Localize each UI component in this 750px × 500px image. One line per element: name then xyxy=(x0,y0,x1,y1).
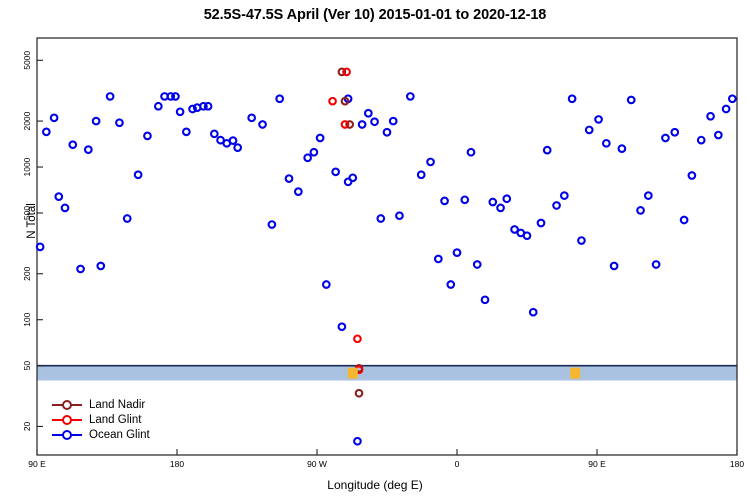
data-point xyxy=(578,237,585,244)
data-point xyxy=(116,119,123,126)
data-point xyxy=(97,263,104,270)
data-point xyxy=(544,147,551,154)
data-point xyxy=(177,109,184,116)
data-point xyxy=(205,103,212,110)
legend-marker-icon xyxy=(52,398,82,412)
data-point xyxy=(342,121,349,128)
data-point xyxy=(707,113,714,120)
data-point xyxy=(489,199,496,206)
x-tick-label-3: 0 xyxy=(455,459,460,469)
data-point xyxy=(69,141,76,148)
threshold-band xyxy=(37,366,737,381)
series-ocean-glint xyxy=(37,93,736,444)
data-point xyxy=(354,438,361,445)
data-point xyxy=(349,175,356,182)
y-tick-label-7: 5000 xyxy=(22,51,32,70)
y-tick-label-4: 500 xyxy=(22,206,32,220)
data-point xyxy=(77,266,84,273)
cluster-marker xyxy=(570,368,580,379)
data-point xyxy=(43,129,50,136)
x-tick-label-1: 180 xyxy=(170,459,184,469)
data-point xyxy=(497,205,504,212)
data-point xyxy=(332,169,339,176)
data-point xyxy=(259,121,266,128)
data-point xyxy=(619,145,626,152)
data-point xyxy=(354,335,361,342)
data-point xyxy=(155,103,162,110)
data-point xyxy=(441,198,448,205)
x-tick-label-0: 90 E xyxy=(28,459,46,469)
legend-item-label: Land Nadir xyxy=(89,398,145,412)
data-point xyxy=(538,220,545,227)
y-tick-label-0: 20 xyxy=(22,421,32,431)
data-point xyxy=(93,118,100,125)
legend-marker-icon xyxy=(52,413,82,427)
data-point xyxy=(461,197,468,204)
data-point xyxy=(468,149,475,156)
scatter-plot-figure: 52.5S-47.5S April (Ver 10) 2015-01-01 to… xyxy=(0,0,750,500)
data-point xyxy=(407,93,414,100)
legend-item-land-glint[interactable]: Land Glint xyxy=(52,412,150,427)
plot-frame xyxy=(37,38,737,455)
legend: Land NadirLand GlintOcean Glint xyxy=(52,397,150,442)
data-point xyxy=(390,118,397,125)
data-point xyxy=(304,154,311,161)
data-point xyxy=(569,95,576,102)
data-point xyxy=(339,323,346,330)
data-point xyxy=(51,115,58,122)
data-point xyxy=(454,249,461,256)
legend-item-ocean-glint[interactable]: Ocean Glint xyxy=(52,427,150,442)
data-point xyxy=(637,207,644,214)
data-point xyxy=(269,221,276,228)
data-point xyxy=(396,212,403,219)
data-point xyxy=(107,93,114,100)
cluster-marker xyxy=(348,368,358,379)
data-point xyxy=(295,188,302,195)
data-point xyxy=(211,131,218,138)
data-point xyxy=(671,129,678,136)
data-point xyxy=(427,159,434,166)
data-point xyxy=(286,175,293,182)
data-point xyxy=(586,127,593,134)
data-point xyxy=(689,172,696,179)
data-point xyxy=(681,217,688,224)
data-point xyxy=(172,93,179,100)
data-point xyxy=(418,171,425,178)
data-point xyxy=(55,193,62,200)
data-point xyxy=(124,215,131,222)
data-point xyxy=(248,115,255,122)
y-tick-label-1: 50 xyxy=(22,361,32,371)
data-point xyxy=(474,261,481,268)
data-point xyxy=(503,195,510,202)
data-point xyxy=(371,118,378,125)
data-point xyxy=(611,263,618,270)
data-point xyxy=(276,95,283,102)
data-point xyxy=(365,110,372,117)
data-point xyxy=(595,116,602,123)
data-point xyxy=(135,171,142,178)
y-tick-label-6: 2000 xyxy=(22,111,32,130)
data-point xyxy=(603,140,610,147)
x-axis-label: Longitude (deg E) xyxy=(0,478,750,492)
data-point xyxy=(645,192,652,199)
legend-marker-icon xyxy=(52,428,82,442)
data-point xyxy=(85,146,92,153)
data-point xyxy=(234,144,241,151)
data-point xyxy=(524,232,531,239)
data-point xyxy=(311,149,318,156)
y-tick-label-3: 200 xyxy=(22,266,32,280)
data-point xyxy=(230,137,237,144)
y-tick-label-5: 1000 xyxy=(22,157,32,176)
data-point xyxy=(144,133,151,140)
data-point xyxy=(653,261,660,268)
data-point xyxy=(482,297,489,304)
data-point xyxy=(329,98,336,105)
data-point xyxy=(359,121,366,128)
y-tick-label-2: 100 xyxy=(22,312,32,326)
data-point xyxy=(447,281,454,288)
series-land-nadir xyxy=(339,69,363,397)
data-point xyxy=(715,132,722,139)
data-point xyxy=(553,202,560,209)
x-tick-label-5: 180 xyxy=(730,459,744,469)
data-point xyxy=(356,390,363,397)
data-point xyxy=(561,192,568,199)
data-point xyxy=(317,135,324,142)
x-tick-label-4: 90 E xyxy=(588,459,606,469)
legend-item-land-nadir[interactable]: Land Nadir xyxy=(52,397,150,412)
data-point xyxy=(729,95,736,102)
data-point xyxy=(62,205,69,212)
data-point xyxy=(628,97,635,104)
data-point xyxy=(723,106,730,113)
legend-item-label: Ocean Glint xyxy=(89,428,150,442)
data-point xyxy=(323,281,330,288)
data-point xyxy=(37,244,44,251)
data-point xyxy=(698,137,705,144)
data-point xyxy=(435,256,442,263)
data-point xyxy=(183,129,190,136)
x-tick-label-2: 90 W xyxy=(307,459,327,469)
data-point xyxy=(530,309,537,316)
legend-item-label: Land Glint xyxy=(89,413,141,427)
data-point xyxy=(377,215,384,222)
data-point xyxy=(662,135,669,142)
data-point xyxy=(384,129,391,136)
data-point xyxy=(343,69,350,76)
